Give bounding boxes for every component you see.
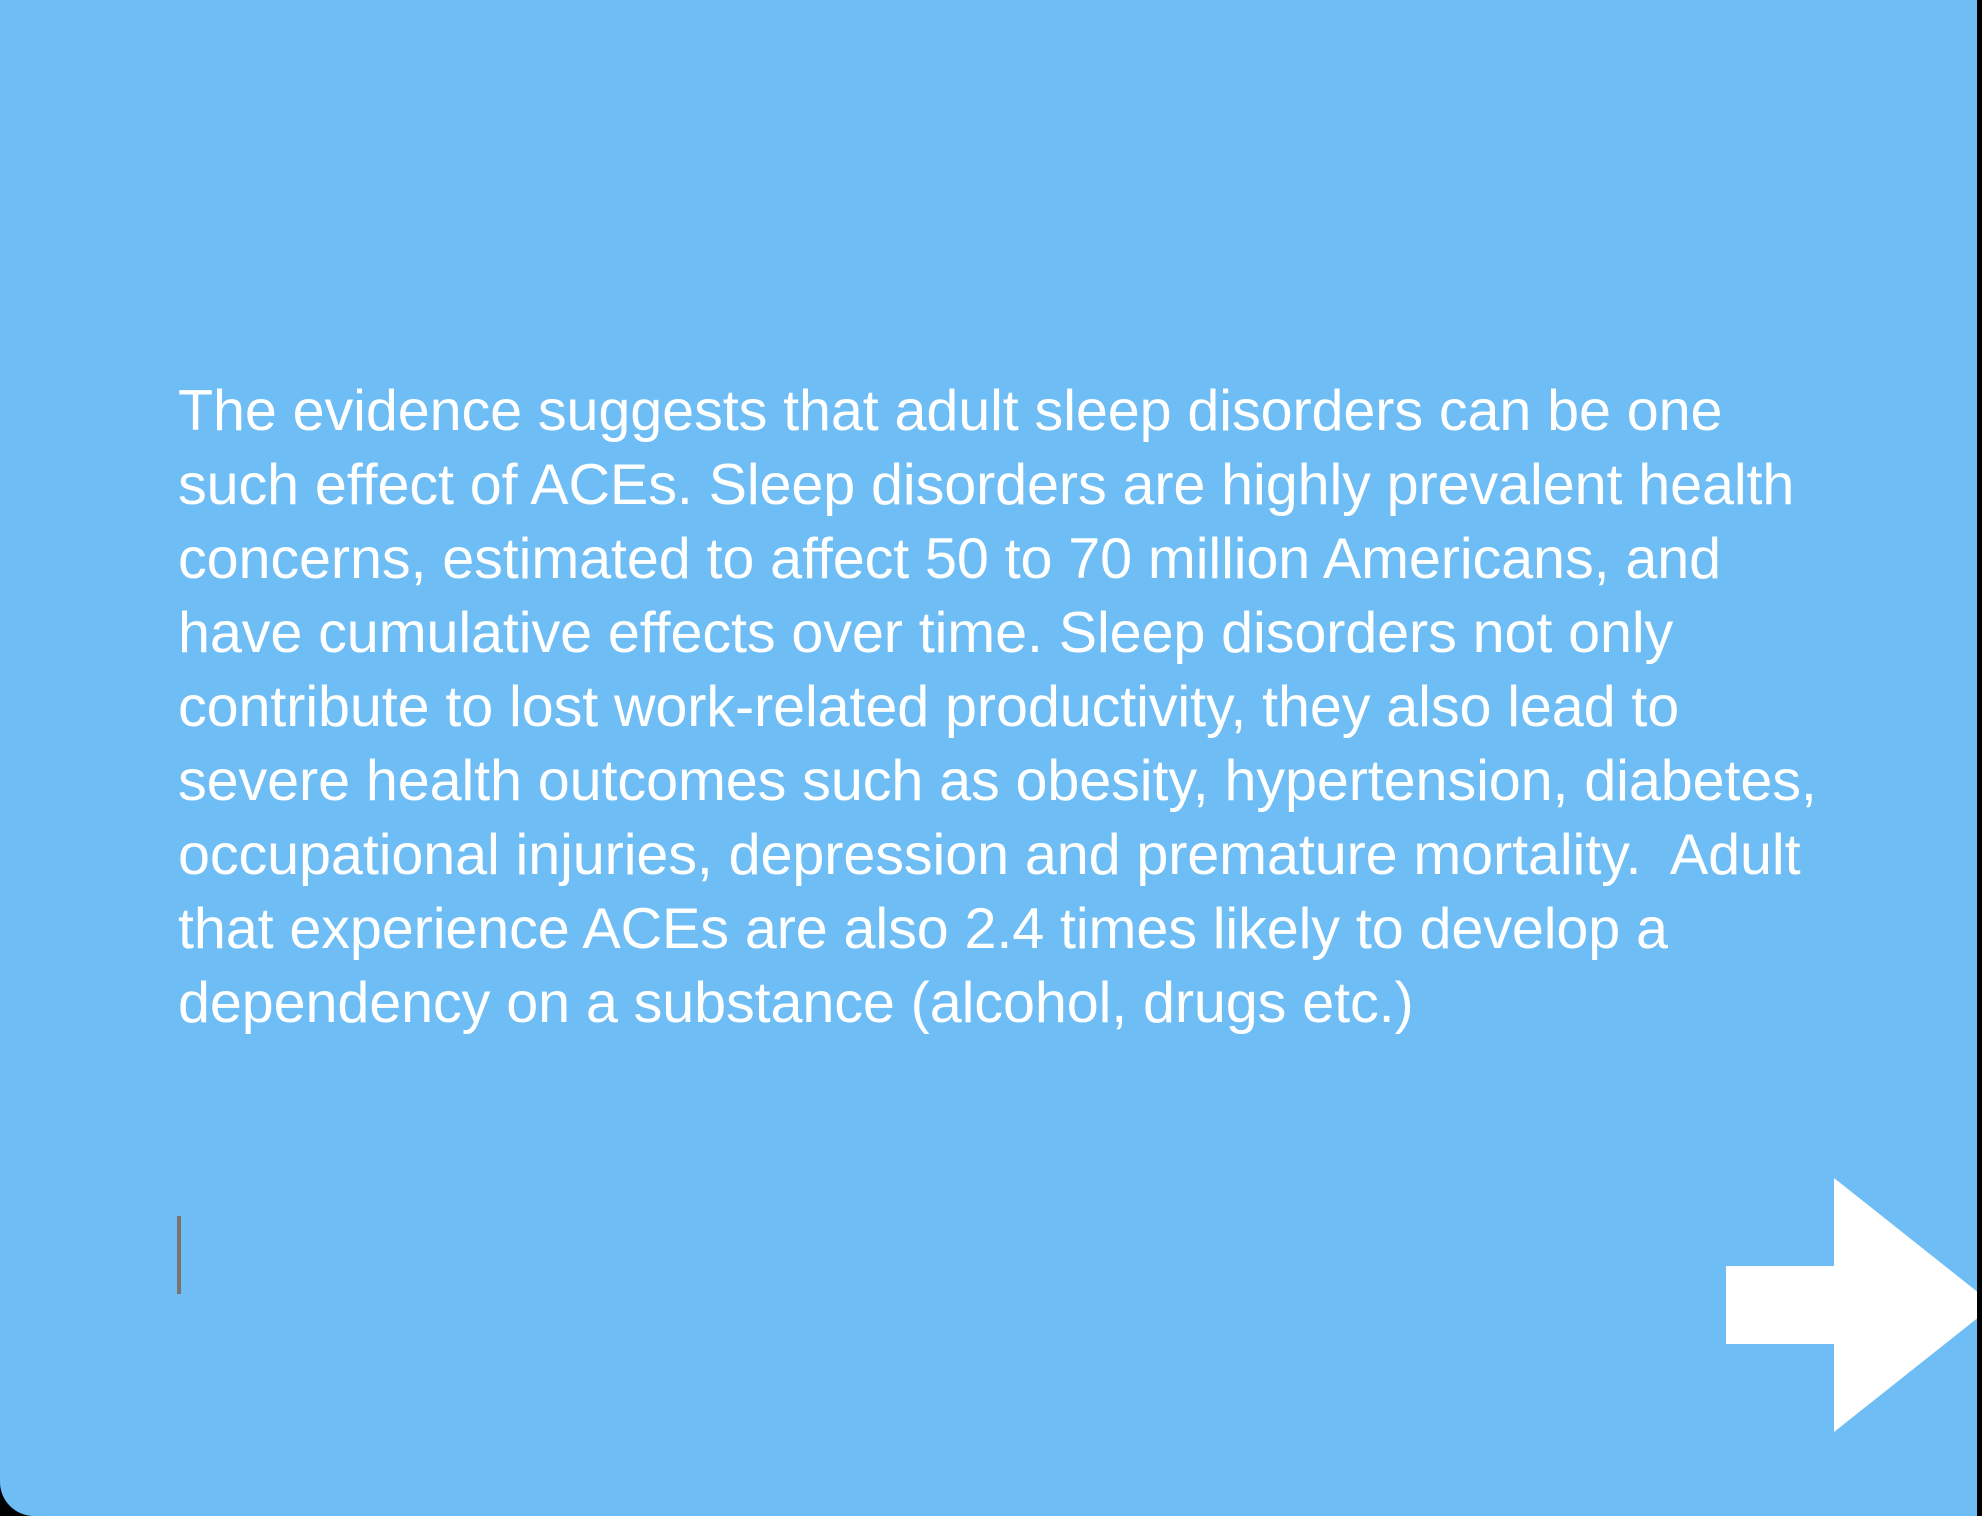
slide-root: The evidence suggests that adult sleep d… <box>0 0 1982 1516</box>
slide-body-text[interactable]: The evidence suggests that adult sleep d… <box>178 374 1818 1040</box>
right-arrow-icon <box>1726 1178 1977 1432</box>
text-insertion-caret <box>177 1216 181 1294</box>
next-slide-arrow-icon[interactable] <box>1726 1178 1977 1432</box>
slide-canvas: The evidence suggests that adult sleep d… <box>0 0 1977 1516</box>
